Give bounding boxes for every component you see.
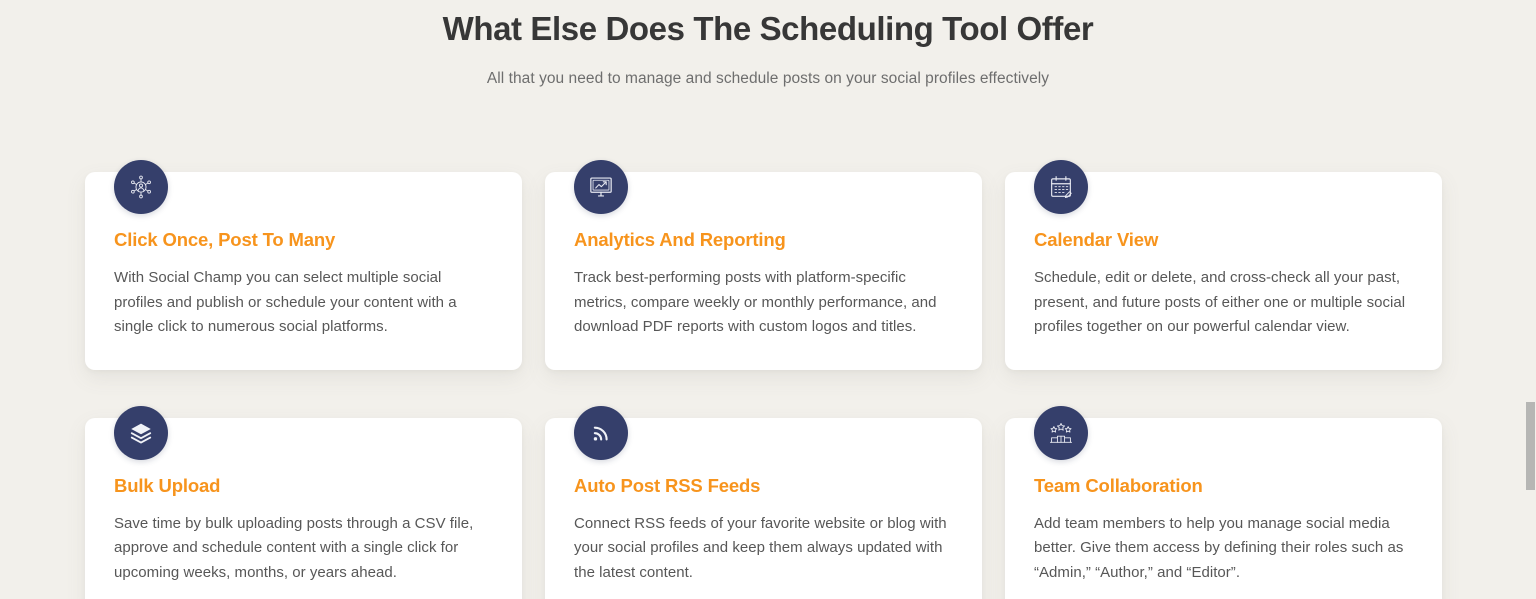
feature-card-description: Save time by bulk uploading posts throug… <box>114 512 492 586</box>
features-section: What Else Does The Scheduling Tool Offer… <box>0 0 1536 599</box>
feature-card[interactable]: Analytics And Reporting Track best-perfo… <box>545 160 982 370</box>
calendar-icon <box>1034 160 1088 214</box>
feature-card[interactable]: Calendar View Schedule, edit or delete, … <box>1005 160 1442 370</box>
feature-card-description: Connect RSS feeds of your favorite websi… <box>574 512 952 586</box>
feature-cards-grid: Click Once, Post To Many With Social Cha… <box>85 160 1445 599</box>
section-subtitle: All that you need to manage and schedule… <box>0 68 1536 90</box>
team-stars-icon <box>1034 406 1088 460</box>
feature-card-description: Schedule, edit or delete, and cross-chec… <box>1034 266 1412 340</box>
feature-card[interactable]: Team Collaboration Add team members to h… <box>1005 406 1442 599</box>
layers-stack-icon <box>114 406 168 460</box>
page-title: What Else Does The Scheduling Tool Offer <box>0 8 1536 50</box>
feature-card-title: Bulk Upload <box>114 474 492 498</box>
feature-card-title: Team Collaboration <box>1034 474 1412 498</box>
section-header: What Else Does The Scheduling Tool Offer… <box>0 0 1536 90</box>
feature-card[interactable]: Auto Post RSS Feeds Connect RSS feeds of… <box>545 406 982 599</box>
feature-card[interactable]: Bulk Upload Save time by bulk uploading … <box>85 406 522 599</box>
feature-card-description: Add team members to help you manage soci… <box>1034 512 1412 586</box>
feature-card-title: Calendar View <box>1034 228 1412 252</box>
network-share-icon <box>114 160 168 214</box>
feature-card[interactable]: Click Once, Post To Many With Social Cha… <box>85 160 522 370</box>
feature-card-title: Analytics And Reporting <box>574 228 952 252</box>
monitor-chart-icon <box>574 160 628 214</box>
feature-card-title: Auto Post RSS Feeds <box>574 474 952 498</box>
feature-card-description: Track best-performing posts with platfor… <box>574 266 952 340</box>
feature-card-title: Click Once, Post To Many <box>114 228 492 252</box>
page-scrollbar[interactable] <box>1521 0 1536 599</box>
scrollbar-thumb[interactable] <box>1526 402 1535 490</box>
rss-feed-icon <box>574 406 628 460</box>
feature-card-description: With Social Champ you can select multipl… <box>114 266 492 340</box>
